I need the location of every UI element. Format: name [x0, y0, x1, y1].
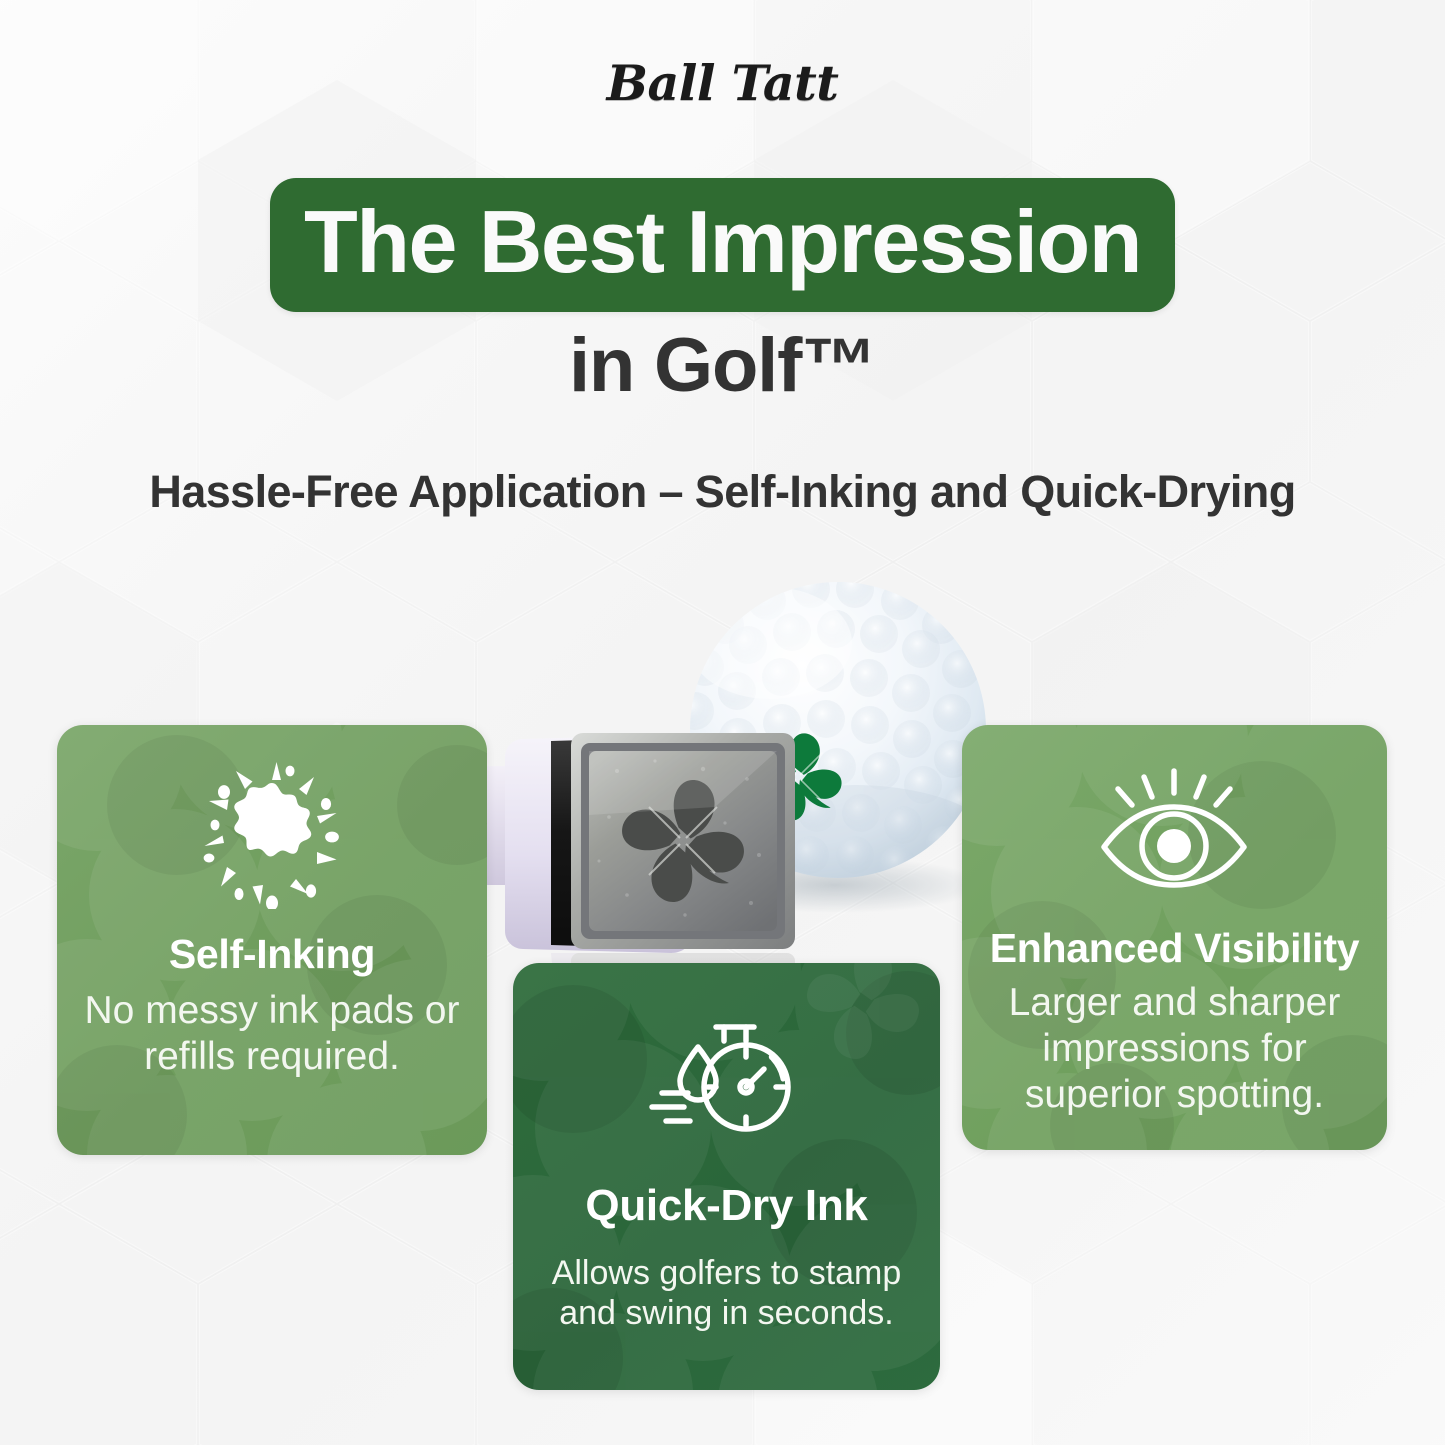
- subtitle-text: Hassle-Free Application – Self-Inking an…: [0, 466, 1445, 518]
- feature-card-self-inking: Self-Inking No messy ink pads or refills…: [57, 725, 487, 1155]
- stamp-head: [505, 733, 795, 953]
- card-title-enhanced-visibility: Enhanced Visibility: [962, 925, 1387, 972]
- headline-group: The Best Impression in Golf™: [0, 178, 1445, 406]
- feature-card-quick-dry: Quick-Dry Ink Allows golfers to stamp an…: [513, 963, 940, 1390]
- eye-icon: [962, 767, 1387, 889]
- headline-badge: The Best Impression: [270, 178, 1175, 312]
- stopwatch-droplet-icon: [513, 1015, 940, 1145]
- card-description-enhanced-visibility: Larger and sharper impressions for super…: [962, 980, 1387, 1118]
- ink-splat-icon: [57, 759, 487, 909]
- card-description-self-inking: No messy ink pads or refills required.: [57, 988, 487, 1080]
- brand-logo: Ball Tatt: [0, 54, 1445, 112]
- poster-canvas: Ball Tatt The Best Impression in Golf™ H…: [0, 0, 1445, 1445]
- feature-card-enhanced-visibility: Enhanced Visibility Larger and sharper i…: [962, 725, 1387, 1150]
- headline-subline: in Golf™: [0, 326, 1445, 406]
- card-description-quick-dry: Allows golfers to stamp and swing in sec…: [513, 1253, 940, 1333]
- card-title-self-inking: Self-Inking: [57, 931, 487, 978]
- card-title-quick-dry: Quick-Dry Ink: [513, 1181, 940, 1231]
